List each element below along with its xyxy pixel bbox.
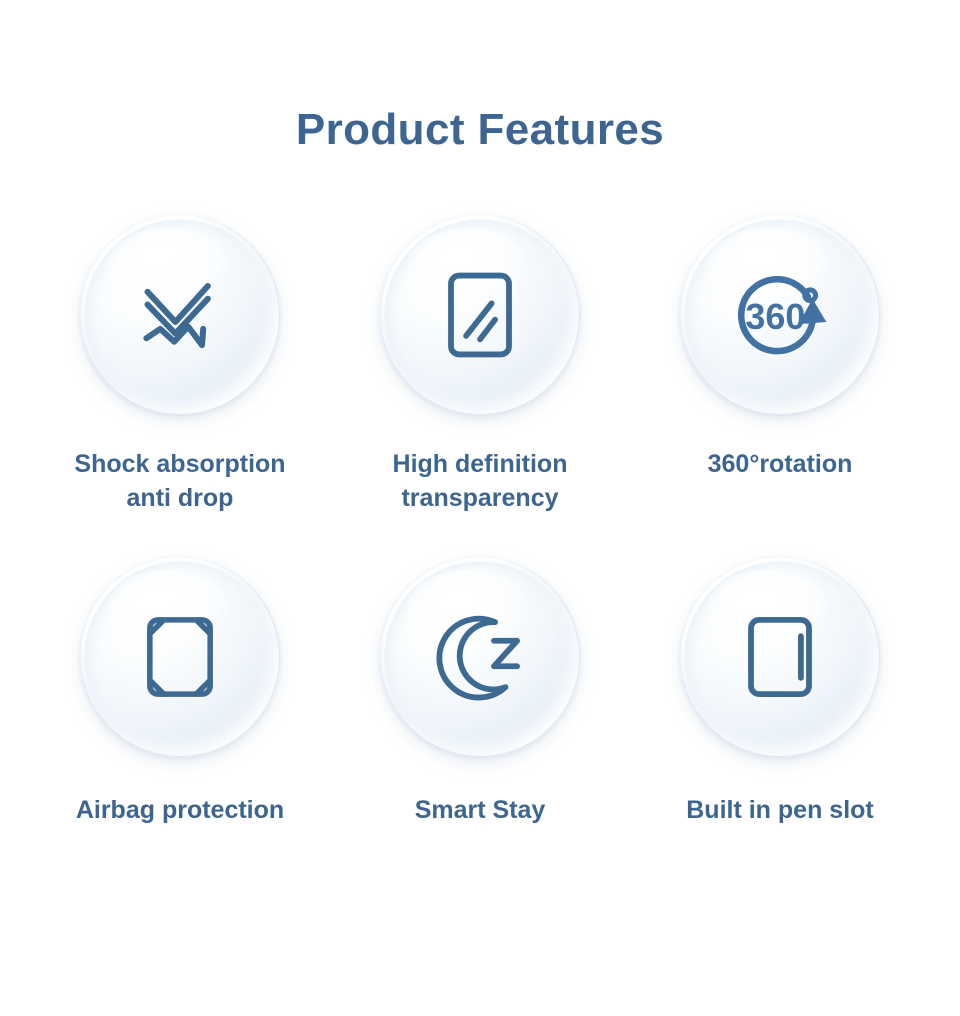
feature-orb	[377, 554, 583, 760]
feature-label: Built in pen slot	[686, 794, 874, 828]
shock-absorption-icon	[122, 257, 238, 373]
feature-orb	[77, 212, 283, 418]
features-grid: Shock absorption anti drop High definiti…	[30, 212, 930, 827]
feature-item-airbag-protection[interactable]: Airbag protection	[30, 554, 330, 828]
feature-label: Shock absorption anti drop	[74, 448, 285, 516]
feature-label: Airbag protection	[76, 794, 284, 828]
feature-label: Smart Stay	[415, 794, 546, 828]
feature-item-shock-absorption[interactable]: Shock absorption anti drop	[30, 212, 330, 516]
moon-sleep-icon	[422, 599, 538, 715]
feature-item-smart-stay[interactable]: Smart Stay	[330, 554, 630, 828]
page-title: Product Features	[296, 108, 664, 152]
airbag-corner-icon	[122, 599, 238, 715]
tablet-pen-slot-icon	[722, 599, 838, 715]
feature-label: 360°rotation	[708, 448, 853, 482]
feature-orb: 360	[677, 212, 883, 418]
screen-shine-icon	[422, 257, 538, 373]
feature-item-built-in-pen-slot[interactable]: Built in pen slot	[630, 554, 930, 828]
feature-orb	[377, 212, 583, 418]
feature-orb	[77, 554, 283, 760]
feature-orb	[677, 554, 883, 760]
feature-item-high-definition-transparency[interactable]: High definition transparency	[330, 212, 630, 516]
360-rotation-icon: 360	[722, 257, 838, 373]
feature-item-360-rotation[interactable]: 360 360°rotation	[630, 212, 930, 516]
feature-label: High definition transparency	[393, 448, 568, 516]
product-features-page: Product Features Shock absorption anti d…	[0, 0, 960, 1016]
svg-text:360: 360	[745, 296, 805, 337]
